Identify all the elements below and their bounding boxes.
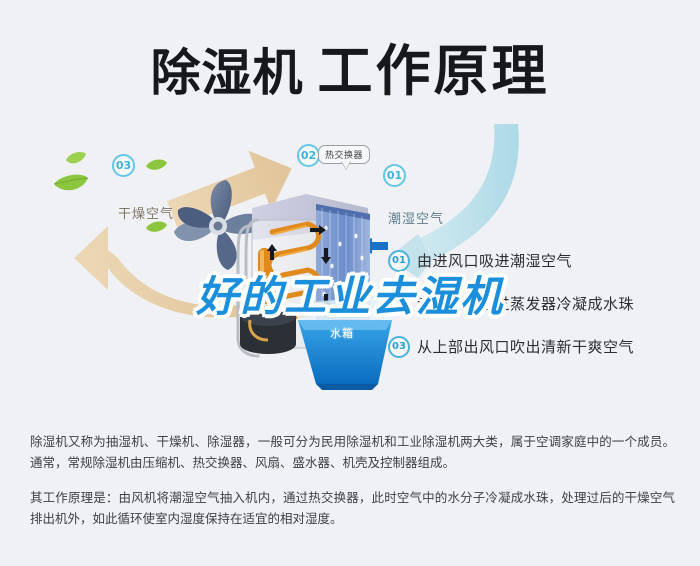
dry-air-label: 干燥空气 (118, 203, 174, 222)
callout-tail-icon (341, 160, 351, 169)
diagram-badge-03: 03 (112, 154, 135, 177)
body-text: 除湿机又称为抽湿机、干燥机、除湿器，一般可分为民用除湿机和工业除湿机两大类，属于… (30, 418, 675, 543)
page-root: 除湿机工作原理 (0, 0, 700, 566)
paragraph-1: 除湿机又称为抽湿机、干燥机、除湿器，一般可分为民用除湿机和工业除湿机两大类，属于… (30, 431, 675, 473)
step-text: 从上部出风口吹出清新干爽空气 (417, 336, 634, 357)
water-tank-label: 水箱 (330, 325, 354, 341)
dehumidifier-diagram: 03 02 01 热交换器 干燥空气 潮湿空气 水箱 01 由进风口吸进潮湿空气… (0, 108, 700, 393)
diagram-badge-02: 02 (297, 144, 320, 167)
humid-air-label: 潮湿空气 (388, 208, 444, 227)
title-part-1: 除湿机 (150, 44, 303, 102)
page-title: 除湿机工作原理 (0, 26, 700, 106)
diagram-badge-01: 01 (383, 164, 406, 187)
list-item: 03 从上部出风口吹出清新干爽空气 (388, 332, 688, 361)
watermark-text: 好的工业去湿机 (0, 263, 700, 324)
title-part-2: 工作原理 (317, 39, 549, 103)
step-number: 03 (388, 336, 410, 358)
paragraph-2: 其工作原理是：由风机将潮湿空气抽入机内，通过热交换器，此时空气中的水分子冷凝成水… (30, 487, 675, 529)
